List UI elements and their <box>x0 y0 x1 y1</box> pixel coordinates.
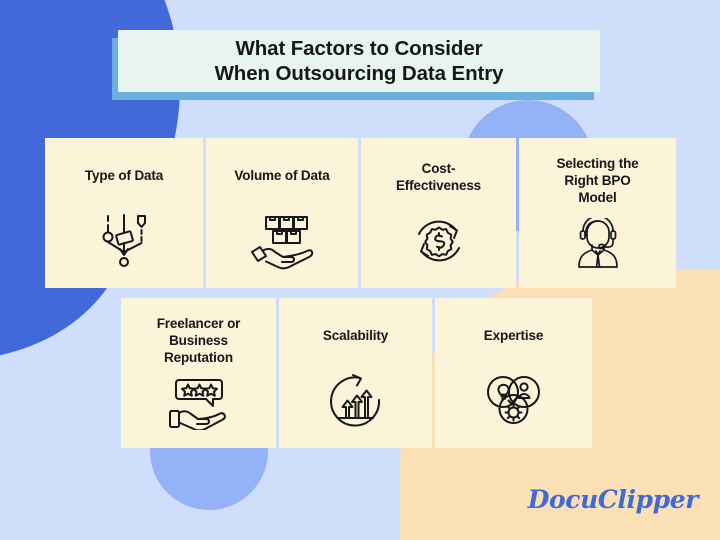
card-title-line2: Effectiveness <box>396 178 481 193</box>
card-title: Scalability <box>290 315 422 344</box>
title-banner: What Factors to Consider When Outsourcin… <box>118 30 600 92</box>
growth-arrows-circle-icon <box>326 372 386 430</box>
card-title-line3: Reputation <box>164 350 233 365</box>
card-title-line1: Cost- <box>422 161 456 176</box>
hand-boxes-icon <box>247 214 317 270</box>
data-flow-icon <box>94 212 154 270</box>
card-title-line3: Model <box>578 190 616 205</box>
venn-skills-icon <box>483 372 545 430</box>
infographic-canvas: What Factors to Consider When Outsourcin… <box>0 0 720 540</box>
card-title: Selecting the Right BPO Model <box>530 155 665 206</box>
title-banner-box: What Factors to Consider When Outsourcin… <box>118 30 600 92</box>
card-title-line1: Freelancer or <box>157 316 241 331</box>
factor-card-scalability[interactable]: Scalability <box>279 298 432 448</box>
page-title-line2: When Outsourcing Data Entry <box>215 61 504 86</box>
card-title: Freelancer or Business Reputation <box>132 315 265 366</box>
factor-card-expertise[interactable]: Expertise <box>435 298 592 448</box>
card-title: Cost- Effectiveness <box>372 155 505 194</box>
brand-logo[interactable]: DocuClipper <box>528 485 698 514</box>
hand-star-review-icon <box>166 378 232 430</box>
factor-card-volume-of-data[interactable]: Volume of Data <box>206 138 358 288</box>
card-title-line2: Right BPO <box>564 173 630 188</box>
support-agent-icon <box>570 218 626 270</box>
card-title: Type of Data <box>56 155 192 184</box>
page-title-line1: What Factors to Consider <box>235 37 482 60</box>
factor-card-type-of-data[interactable]: Type of Data <box>45 138 203 288</box>
factor-card-reputation[interactable]: Freelancer or Business Reputation <box>121 298 276 448</box>
factor-card-bpo-model[interactable]: Selecting the Right BPO Model <box>519 138 676 288</box>
card-title-line2: Business <box>169 333 228 348</box>
factor-card-cost-effectiveness[interactable]: Cost- Effectiveness <box>361 138 516 288</box>
page-title: What Factors to Consider When Outsourcin… <box>207 36 512 86</box>
gear-dollar-refresh-icon <box>409 212 469 270</box>
card-title: Expertise <box>446 315 581 344</box>
card-title-line1: Selecting the <box>556 156 638 171</box>
card-title: Volume of Data <box>217 155 348 184</box>
